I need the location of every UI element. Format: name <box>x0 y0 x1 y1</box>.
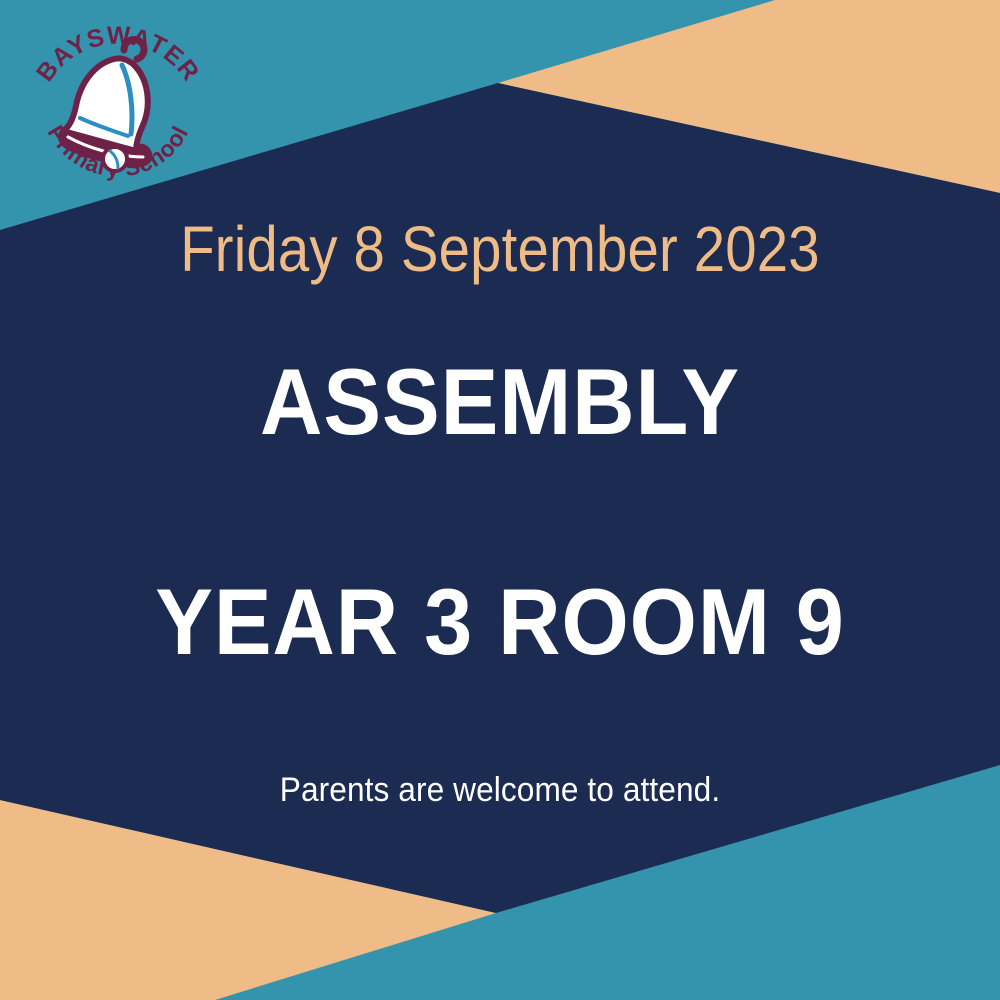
poster-content: Friday 8 September 2023 ASSEMBLY YEAR 3 … <box>0 0 1000 1000</box>
event-title: ASSEMBLY <box>40 355 960 449</box>
event-location: YEAR 3 ROOM 9 <box>40 575 960 669</box>
assembly-poster: BAYSWATER Primary School <box>0 0 1000 1000</box>
event-note: Parents are welcome to attend. <box>35 770 965 811</box>
event-date: Friday 8 September 2023 <box>60 216 940 283</box>
